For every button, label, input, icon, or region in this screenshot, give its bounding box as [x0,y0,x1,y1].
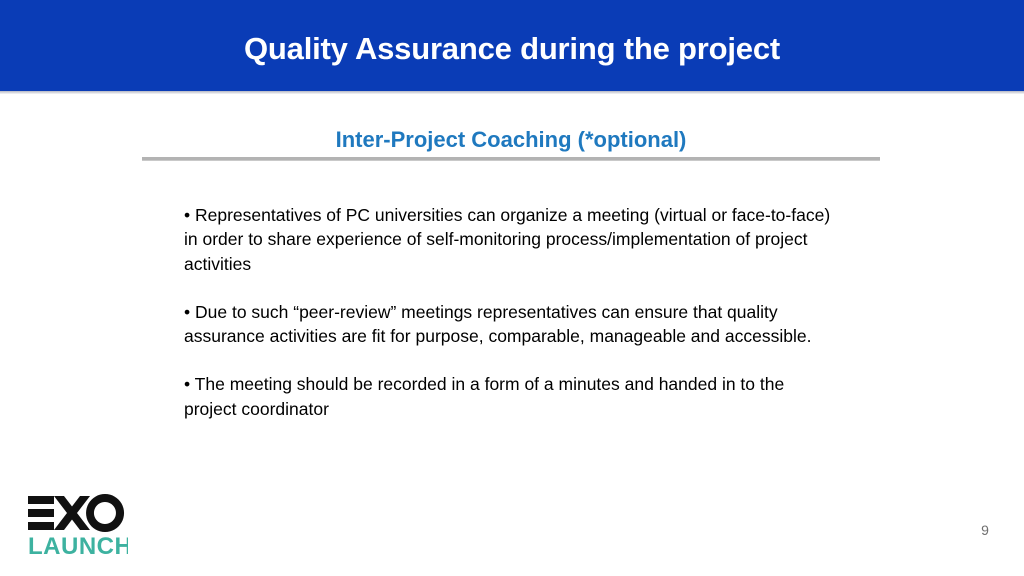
page-title: Quality Assurance during the project [0,30,1024,68]
exolaunch-logo: LAUNCH [28,494,128,558]
bullet-item: • The meeting should be recorded in a fo… [184,372,832,421]
exolaunch-logo-icon: LAUNCH [28,494,128,558]
page-number: 9 [960,521,1010,539]
bullet-item: • Due to such “peer-review” meetings rep… [184,300,832,349]
logo-exo-mark [28,494,124,532]
slide-subtitle: Inter-Project Coaching (*optional) [142,126,880,154]
subtitle-divider [142,157,880,161]
svg-text:LAUNCH: LAUNCH [28,533,128,558]
logo-launch-text: LAUNCH [28,533,128,558]
slide-body: • Representatives of PC universities can… [184,203,832,421]
bullet-item: • Representatives of PC universities can… [184,203,832,276]
slide-title-band: Quality Assurance during the project [0,0,1024,91]
